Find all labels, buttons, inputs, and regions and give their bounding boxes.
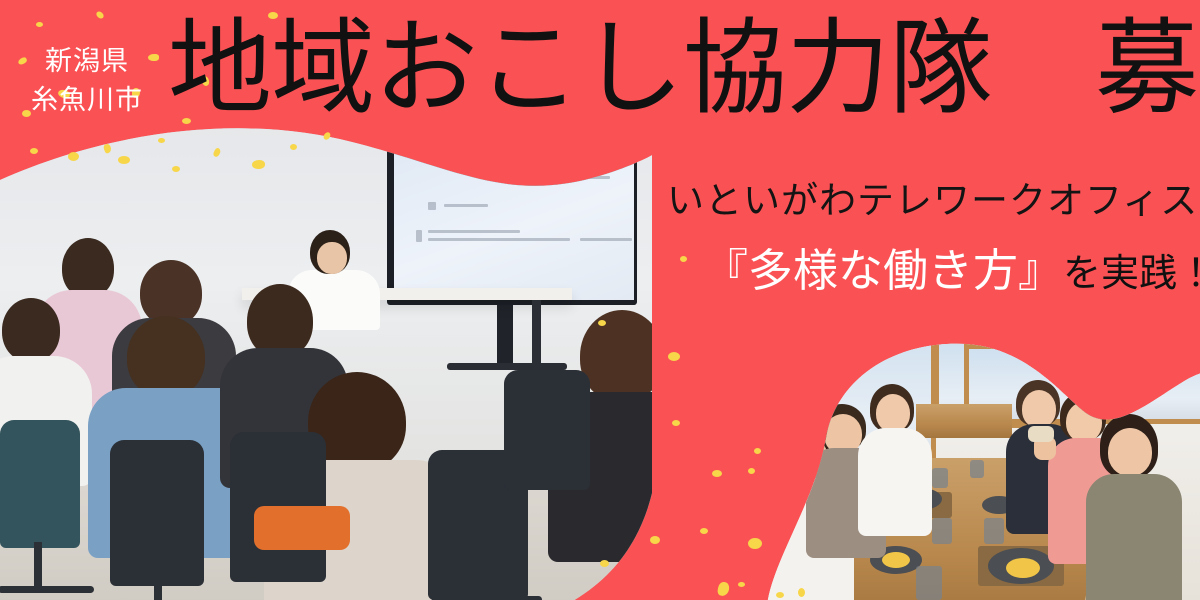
- dining-table-far: [916, 404, 1012, 438]
- confetti-flake: [754, 448, 761, 454]
- confetti-flake: [36, 22, 43, 27]
- prefecture-name: 新潟県: [22, 42, 152, 81]
- city-name: 糸魚川市: [22, 81, 152, 120]
- subtitle-line-1: いといがわテレワークオフィスで: [667, 183, 1200, 220]
- confetti-flake: [748, 468, 755, 474]
- confetti-flake: [717, 581, 731, 597]
- subtitle-highlight: 『多様な働き方』: [703, 246, 1063, 296]
- confetti-flake: [672, 420, 680, 426]
- recruitment-banner: 新潟県 糸魚川市 地域おこし協力隊 募集 いといがわテレワークオフィスで 『多様…: [0, 0, 1200, 600]
- screen-base: [447, 363, 567, 370]
- confetti-flake: [712, 470, 722, 477]
- page-title: 地域おこし協力隊 募集: [168, 18, 1200, 122]
- orange-cushion: [254, 506, 350, 550]
- confetti-flake: [30, 148, 38, 154]
- plate-food: [1006, 558, 1040, 578]
- glass: [984, 518, 1004, 544]
- food-item: [1028, 426, 1054, 442]
- plate-food: [882, 552, 910, 568]
- office-chair: [0, 420, 80, 548]
- projector-screen: [394, 134, 634, 300]
- presenter-face: [317, 242, 347, 274]
- subtitle-tail: を実践！: [1063, 253, 1200, 295]
- office-chair: [504, 370, 590, 490]
- screen-stand: [497, 305, 513, 367]
- confetti-flake: [668, 352, 680, 361]
- confetti-flake: [738, 582, 745, 587]
- window-blue-panel: [1056, 350, 1082, 386]
- glass: [932, 468, 948, 488]
- seminar-room-photo: [0, 120, 652, 600]
- confetti-flake: [650, 536, 660, 544]
- glass: [932, 518, 952, 544]
- glass: [916, 566, 942, 600]
- glass: [970, 460, 984, 478]
- lunch-table-photo: [766, 318, 1200, 600]
- region-label: 新潟県 糸魚川市: [22, 42, 152, 120]
- window-greenery: [766, 374, 828, 444]
- confetti-flake: [748, 538, 762, 549]
- confetti-flake: [95, 10, 105, 20]
- confetti-flake: [700, 528, 708, 534]
- office-chair: [110, 440, 204, 586]
- subtitle-line-2: 『多様な働き方』を実践！: [703, 249, 1200, 294]
- confetti-flake: [680, 256, 687, 262]
